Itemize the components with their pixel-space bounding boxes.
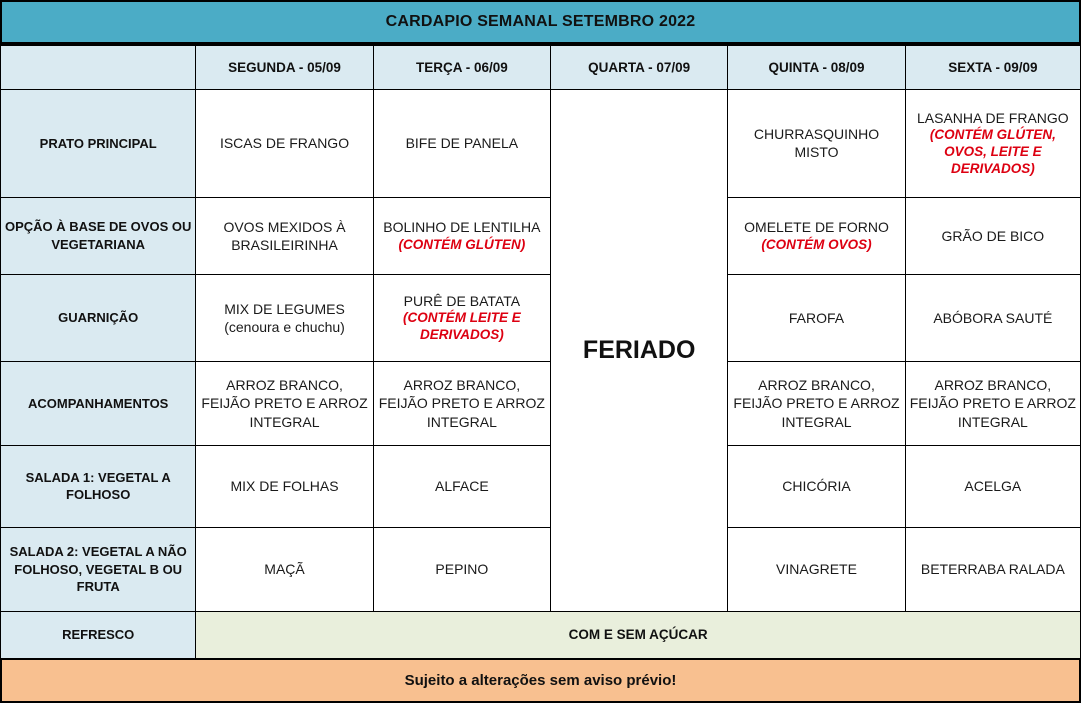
footer-notice: Sujeito a alterações sem aviso prévio! [405,672,677,689]
cell-salada2-quinta: VINAGRETE [728,527,905,611]
dish-name: ARROZ BRANCO, FEIJÃO PRETO E ARROZ INTEG… [200,376,368,431]
dish-name: OMELETE DE FORNO [732,218,900,236]
table-row: GUARNIÇÃO MIX DE LEGUMES (cenoura e chuc… [1,274,1081,361]
allergen-note: (CONTÉM OVOS) [732,237,900,254]
allergen-note: (CONTÉM GLÚTEN) [378,237,546,254]
row-label-acompanhamentos: ACOMPANHAMENTOS [1,361,196,445]
dish-name: GRÃO DE BICO [910,227,1076,245]
cell-guarnicao-terca: PURÊ DE BATATA (CONTÉM LEITE E DERIVADOS… [373,274,550,361]
table-row: ACOMPANHAMENTOS ARROZ BRANCO, FEIJÃO PRE… [1,361,1081,445]
row-label-opcao-ovos-vegetariana: OPÇÃO À BASE DE OVOS OU VEGETARIANA [1,198,196,275]
cell-opcao-terca: BOLINHO DE LENTILHA (CONTÉM GLÚTEN) [373,198,550,275]
weekly-menu-sheet: CARDAPIO SEMANAL SETEMBRO 2022 SEGUNDA -… [0,0,1081,703]
cell-acompanhamentos-segunda: ARROZ BRANCO, FEIJÃO PRETO E ARROZ INTEG… [196,361,373,445]
dish-name: BIFE DE PANELA [378,134,546,152]
cell-prato-principal-terca: BIFE DE PANELA [373,89,550,198]
header-day-terca: TERÇA - 06/09 [373,45,550,89]
cell-refresco-value: COM E SEM AÇÚCAR [196,611,1081,658]
cell-acompanhamentos-terca: ARROZ BRANCO, FEIJÃO PRETO E ARROZ INTEG… [373,361,550,445]
cell-opcao-quinta: OMELETE DE FORNO (CONTÉM OVOS) [728,198,905,275]
cell-salada1-terca: ALFACE [373,445,550,527]
table-row: SALADA 1: VEGETAL A FOLHOSO MIX DE FOLHA… [1,445,1081,527]
dish-detail: (cenoura e chuchu) [200,318,368,336]
dish-name: MIX DE FOLHAS [200,477,368,495]
row-label-salada-1: SALADA 1: VEGETAL A FOLHOSO [1,445,196,527]
dish-name: ALFACE [378,477,546,495]
row-label-refresco: REFRESCO [1,611,196,658]
header-corner-cell [1,45,196,89]
header-day-quarta: QUARTA - 07/09 [551,45,728,89]
cell-salada1-segunda: MIX DE FOLHAS [196,445,373,527]
page-title: CARDAPIO SEMANAL SETEMBRO 2022 [386,13,696,31]
cell-prato-principal-segunda: ISCAS DE FRANGO [196,89,373,198]
table-header-row: SEGUNDA - 05/09 TERÇA - 06/09 QUARTA - 0… [1,45,1081,89]
header-day-quinta: QUINTA - 08/09 [728,45,905,89]
allergen-note: (CONTÉM LEITE E DERIVADOS) [378,310,546,344]
cell-opcao-segunda: OVOS MEXIDOS À BRASILEIRINHA [196,198,373,275]
cell-guarnicao-sexta: ABÓBORA SAUTÉ [905,274,1080,361]
dish-name: MAÇÃ [200,560,368,578]
dish-name: FAROFA [732,309,900,327]
dish-name: PURÊ DE BATATA [378,292,546,310]
row-label-salada-2: SALADA 2: VEGETAL A NÃO FOLHOSO, VEGETAL… [1,527,196,611]
cell-prato-principal-quinta: CHURRASQUINHO MISTO [728,89,905,198]
dish-name: BOLINHO DE LENTILHA [378,218,546,236]
dish-name: CHURRASQUINHO MISTO [732,125,900,161]
dish-name: MIX DE LEGUMES [200,300,368,318]
cell-salada2-terca: PEPINO [373,527,550,611]
table-row: OPÇÃO À BASE DE OVOS OU VEGETARIANA OVOS… [1,198,1081,275]
dish-name: BETERRABA RALADA [910,560,1076,578]
dish-name: OVOS MEXIDOS À BRASILEIRINHA [200,218,368,254]
cell-salada1-sexta: ACELGA [905,445,1080,527]
dish-name: ABÓBORA SAUTÉ [910,309,1076,327]
dish-name: CHICÓRIA [732,477,900,495]
cell-acompanhamentos-quinta: ARROZ BRANCO, FEIJÃO PRETO E ARROZ INTEG… [728,361,905,445]
cell-prato-principal-sexta: LASANHA DE FRANGO (CONTÉM GLÚTEN, OVOS, … [905,89,1080,198]
cell-guarnicao-quinta: FAROFA [728,274,905,361]
cell-salada2-sexta: BETERRABA RALADA [905,527,1080,611]
table-row: PRATO PRINCIPAL ISCAS DE FRANGO BIFE DE … [1,89,1081,198]
cell-guarnicao-segunda: MIX DE LEGUMES (cenoura e chuchu) [196,274,373,361]
cell-opcao-sexta: GRÃO DE BICO [905,198,1080,275]
cell-salada1-quinta: CHICÓRIA [728,445,905,527]
menu-title-bar: CARDAPIO SEMANAL SETEMBRO 2022 [0,0,1081,44]
row-label-prato-principal: PRATO PRINCIPAL [1,89,196,198]
dish-name: ARROZ BRANCO, FEIJÃO PRETO E ARROZ INTEG… [910,376,1076,431]
dish-name: ISCAS DE FRANGO [200,134,368,152]
dish-name: VINAGRETE [732,560,900,578]
table-row: SALADA 2: VEGETAL A NÃO FOLHOSO, VEGETAL… [1,527,1081,611]
dish-name: ARROZ BRANCO, FEIJÃO PRETO E ARROZ INTEG… [732,376,900,431]
dish-name: ARROZ BRANCO, FEIJÃO PRETO E ARROZ INTEG… [378,376,546,431]
table-row-refresco: REFRESCO COM E SEM AÇÚCAR [1,611,1081,658]
cell-acompanhamentos-sexta: ARROZ BRANCO, FEIJÃO PRETO E ARROZ INTEG… [905,361,1080,445]
cell-salada2-segunda: MAÇÃ [196,527,373,611]
row-label-guarnicao: GUARNIÇÃO [1,274,196,361]
dish-name: ACELGA [910,477,1076,495]
dish-name: PEPINO [378,560,546,578]
header-day-sexta: SEXTA - 09/09 [905,45,1080,89]
allergen-note: (CONTÉM GLÚTEN, OVOS, LEITE E DERIVADOS) [910,127,1076,178]
menu-footer-bar: Sujeito a alterações sem aviso prévio! [0,659,1081,703]
holiday-cell-quarta: FERIADO [551,89,728,611]
header-day-segunda: SEGUNDA - 05/09 [196,45,373,89]
dish-name: LASANHA DE FRANGO [910,109,1076,127]
menu-table: SEGUNDA - 05/09 TERÇA - 06/09 QUARTA - 0… [0,44,1081,659]
